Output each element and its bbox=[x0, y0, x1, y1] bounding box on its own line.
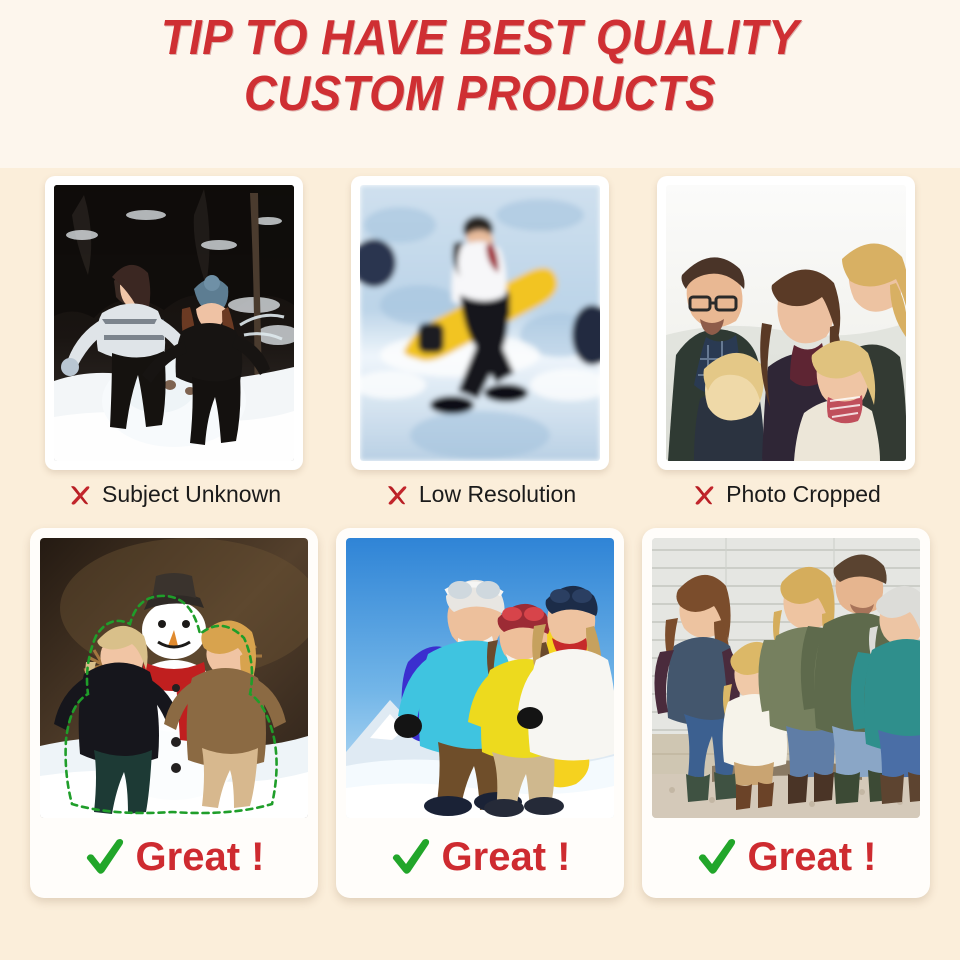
examples-grid: Subject Unknown bbox=[0, 168, 960, 960]
great-card: Great ! bbox=[336, 528, 624, 898]
photo-frame bbox=[657, 176, 915, 470]
good-example-card-1[interactable]: Great ! bbox=[24, 528, 324, 908]
title-line-2: CUSTOM PRODUCTS bbox=[34, 70, 927, 120]
photo-cropped bbox=[666, 185, 906, 461]
great-card: Great ! bbox=[30, 528, 318, 898]
cross-icon bbox=[384, 482, 410, 508]
photo-low-resolution bbox=[360, 185, 600, 461]
photo-snowboarders bbox=[346, 538, 614, 818]
photo-snowman-cutout bbox=[40, 538, 308, 818]
check-icon bbox=[696, 837, 738, 877]
good-example-label-3: Great ! bbox=[748, 835, 877, 880]
cross-icon bbox=[691, 482, 717, 508]
good-example-card-2[interactable]: Great ! bbox=[330, 528, 630, 908]
check-icon bbox=[84, 837, 126, 877]
photo-family-group bbox=[652, 538, 920, 818]
bad-example-caption-1: Subject Unknown bbox=[24, 481, 324, 508]
bad-example-caption-2: Low Resolution bbox=[330, 481, 630, 508]
bad-example-card-2[interactable]: Low Resolution bbox=[330, 176, 630, 528]
bad-example-card-1[interactable]: Subject Unknown bbox=[24, 176, 324, 528]
cross-icon bbox=[67, 482, 93, 508]
bad-example-label-2: Low Resolution bbox=[419, 481, 576, 508]
bad-example-card-3[interactable]: Photo Cropped bbox=[636, 176, 936, 528]
bad-example-label-1: Subject Unknown bbox=[102, 481, 281, 508]
bad-example-label-3: Photo Cropped bbox=[726, 481, 881, 508]
photo-frame bbox=[351, 176, 609, 470]
bad-example-caption-3: Photo Cropped bbox=[636, 481, 936, 508]
infographic-page: TIP TO HAVE BEST QUALITY CUSTOM PRODUCTS bbox=[0, 0, 960, 960]
great-card: Great ! bbox=[642, 528, 930, 898]
good-example-label-2: Great ! bbox=[442, 835, 571, 880]
photo-subject-unknown bbox=[54, 185, 294, 461]
good-example-caption-2: Great ! bbox=[346, 818, 614, 896]
title-line-1: TIP TO HAVE BEST QUALITY bbox=[34, 14, 927, 64]
page-title: TIP TO HAVE BEST QUALITY CUSTOM PRODUCTS bbox=[34, 14, 927, 120]
check-icon bbox=[390, 837, 432, 877]
photo-frame bbox=[45, 176, 303, 470]
good-example-caption-1: Great ! bbox=[40, 818, 308, 896]
good-example-caption-3: Great ! bbox=[652, 818, 920, 896]
good-example-label-1: Great ! bbox=[136, 835, 265, 880]
good-example-card-3[interactable]: Great ! bbox=[636, 528, 936, 908]
